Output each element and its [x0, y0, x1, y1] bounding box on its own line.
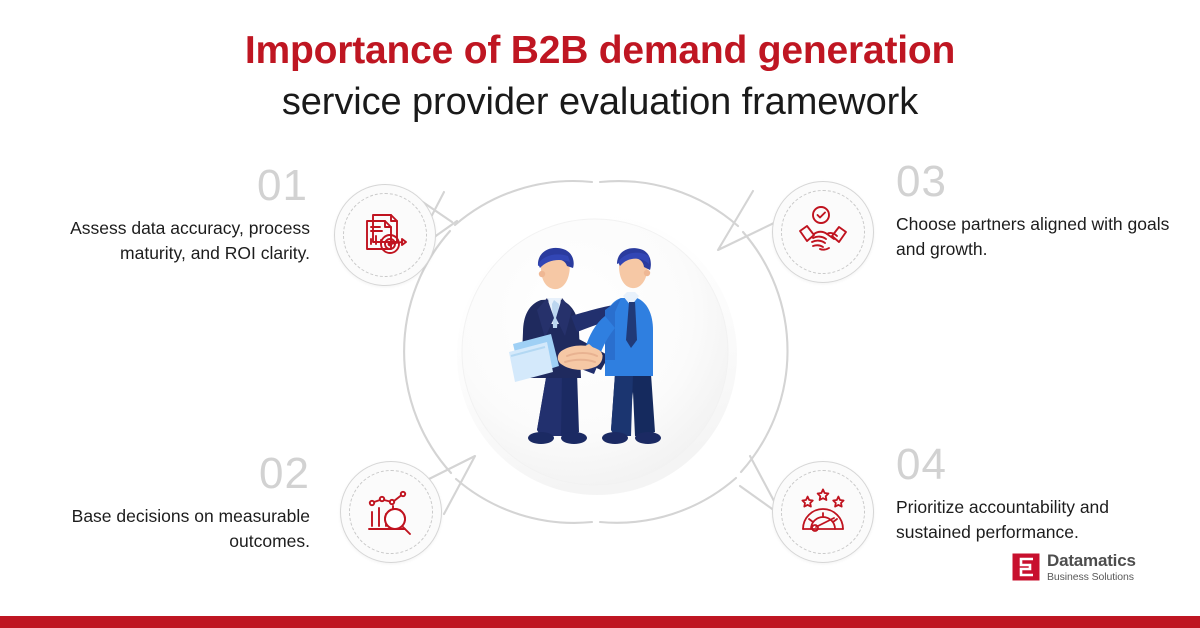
icon-circle-03[interactable] [772, 181, 874, 283]
bar-chart-magnifier-icon [340, 461, 442, 563]
gauge-stars-icon [772, 461, 874, 563]
item-number-02: 02 [30, 452, 310, 496]
logo-brand: Datamatics [1047, 552, 1136, 569]
handshake-check-icon [772, 181, 874, 283]
item-number-01: 01 [30, 164, 308, 208]
datamatics-d-mark-icon [1012, 553, 1040, 581]
item-number-04: 04 [896, 443, 1186, 487]
logo-tagline: Business Solutions [1047, 572, 1136, 583]
icon-circle-04[interactable] [772, 461, 874, 563]
item-description-04: Prioritize accountability and sustained … [896, 495, 1186, 545]
datamatics-logo: Datamatics Business Solutions [1012, 552, 1136, 583]
bottom-accent-bar [0, 616, 1200, 628]
infographic-canvas: Importance of B2B demand generation serv… [0, 0, 1200, 628]
logo-wordmark: Datamatics Business Solutions [1047, 552, 1136, 583]
item-03: 03 Choose partners aligned with goals an… [896, 160, 1176, 262]
item-02: 02 Base decisions on measurable outcomes… [30, 452, 310, 554]
item-description-03: Choose partners aligned with goals and g… [896, 212, 1176, 262]
handshake-illustration [455, 240, 735, 470]
icon-circle-01[interactable] [334, 184, 436, 286]
item-description-01: Assess data accuracy, process maturity, … [30, 216, 310, 266]
item-number-03: 03 [896, 160, 1176, 204]
document-chart-target-icon [334, 184, 436, 286]
icon-circle-02[interactable] [340, 461, 442, 563]
item-01: 01 Assess data accuracy, process maturit… [30, 164, 310, 266]
item-04: 04 Prioritize accountability and sustain… [896, 443, 1186, 545]
item-description-02: Base decisions on measurable outcomes. [30, 504, 310, 554]
